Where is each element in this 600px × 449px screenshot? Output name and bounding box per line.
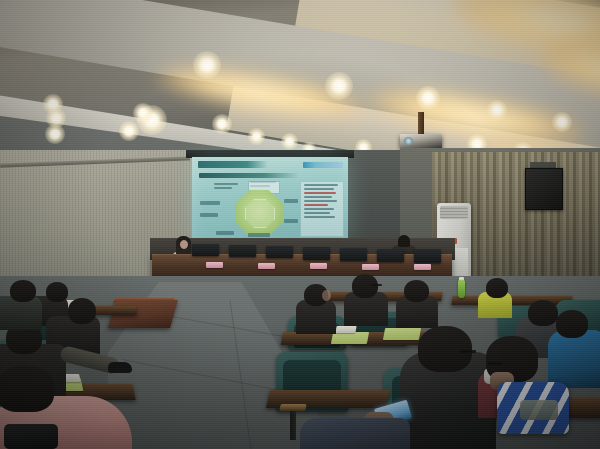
white-paper-1 bbox=[335, 326, 356, 333]
student-r3-head bbox=[404, 280, 429, 302]
armrest-1 bbox=[279, 404, 306, 411]
student-r2-glasses bbox=[371, 284, 382, 286]
student-l3-shoe bbox=[108, 362, 132, 373]
backpack-pocket bbox=[520, 400, 558, 420]
name-placard-2 bbox=[258, 263, 275, 269]
student-blue-head bbox=[556, 310, 588, 338]
name-placard-5 bbox=[414, 264, 431, 270]
name-placard-1 bbox=[206, 262, 223, 268]
seated-official-head bbox=[398, 235, 410, 247]
phone-user-glasses bbox=[460, 350, 476, 353]
table-monitor-7 bbox=[414, 249, 441, 263]
student-l2-head bbox=[68, 298, 96, 324]
slide-node-bottom-left bbox=[216, 231, 234, 235]
water-bottle bbox=[458, 280, 465, 298]
slide-octagon-inner bbox=[245, 199, 275, 228]
chin-rest-glasses bbox=[488, 362, 503, 365]
name-placard-3 bbox=[310, 263, 327, 269]
student-grey-head bbox=[528, 300, 558, 326]
table-monitor-5 bbox=[340, 248, 367, 261]
student-l1-head bbox=[46, 282, 68, 302]
slide-node-right-2 bbox=[284, 219, 298, 223]
slide-node-left-1 bbox=[200, 201, 220, 205]
presenter-face bbox=[180, 240, 188, 249]
table-monitor-2 bbox=[229, 245, 256, 257]
student-r2-head bbox=[352, 274, 378, 298]
name-placard-4 bbox=[362, 264, 379, 270]
projector-lens bbox=[404, 137, 413, 145]
student-r1-face bbox=[322, 290, 331, 301]
desk-leg-1 bbox=[290, 406, 296, 440]
slide-headline bbox=[199, 173, 299, 178]
student-l4-head bbox=[10, 280, 36, 302]
air-conditioner-grille bbox=[440, 206, 468, 219]
student-yellow-head bbox=[486, 278, 508, 298]
slide-label-a bbox=[214, 183, 240, 191]
blue-jacket-person bbox=[548, 330, 600, 388]
wall-speaker bbox=[525, 168, 563, 210]
slide-node-bottom bbox=[248, 233, 270, 237]
green-handout-1 bbox=[331, 332, 369, 344]
slide-logo bbox=[303, 162, 343, 168]
table-monitor-3 bbox=[266, 246, 293, 259]
slide-callout-panel bbox=[300, 181, 344, 237]
table-monitor-6 bbox=[377, 249, 404, 263]
phone-user-head bbox=[418, 326, 472, 372]
slide-node-right-1 bbox=[284, 199, 298, 203]
projection-screen bbox=[192, 157, 348, 241]
pink-person-head bbox=[0, 366, 54, 412]
slide-node-left-2 bbox=[200, 213, 218, 217]
table-monitor-4 bbox=[303, 247, 330, 260]
slide-title-bar bbox=[198, 161, 268, 168]
table-monitor-1 bbox=[192, 244, 219, 256]
green-handout-2 bbox=[383, 328, 421, 340]
phone-user-jeans bbox=[300, 418, 410, 449]
dark-item-foreground bbox=[4, 424, 58, 449]
lecture-hall-photo bbox=[0, 0, 600, 449]
